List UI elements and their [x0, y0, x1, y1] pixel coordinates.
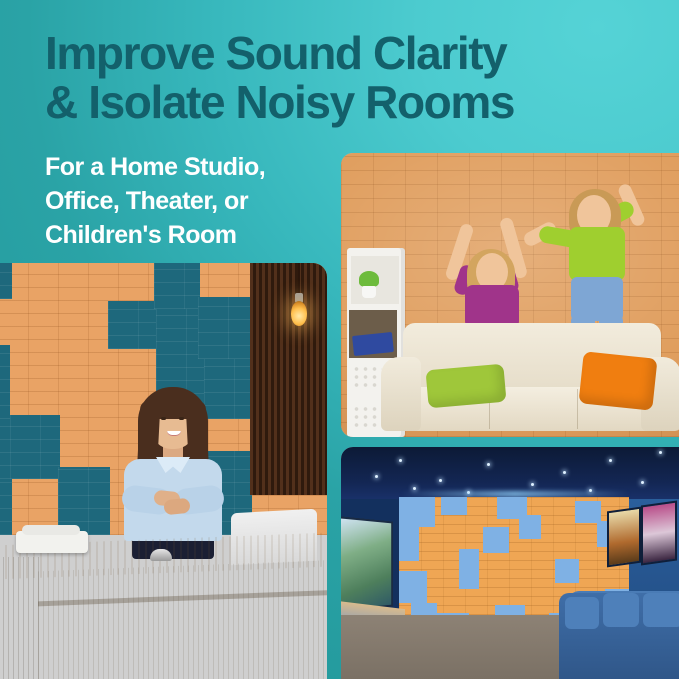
desk-phone	[16, 531, 88, 553]
photo-kids-living-room	[341, 153, 679, 437]
pillow-green	[425, 364, 506, 409]
wall-mounted-tv	[341, 516, 393, 612]
page-title: Improve Sound Clarity & Isolate Noisy Ro…	[45, 29, 645, 127]
photo-home-theater	[341, 447, 679, 679]
page-subtitle: For a Home Studio, Office, Theater, or C…	[45, 150, 345, 252]
theater-sofa	[559, 593, 679, 679]
product-banner: Improve Sound Clarity & Isolate Noisy Ro…	[0, 0, 679, 679]
pillow-orange	[578, 351, 657, 410]
sofa	[381, 323, 679, 433]
wood-slat-wall	[250, 263, 327, 495]
potted-plant	[359, 271, 379, 287]
edison-bulb	[291, 301, 307, 326]
movie-poster-1	[607, 507, 641, 568]
photo-office-reception	[0, 263, 327, 679]
movie-poster-2	[641, 500, 677, 565]
shelf-perforation-bottom	[352, 405, 382, 427]
service-bell	[150, 549, 172, 561]
plant-pot	[362, 286, 376, 298]
shelf-perforation-top	[352, 365, 382, 387]
